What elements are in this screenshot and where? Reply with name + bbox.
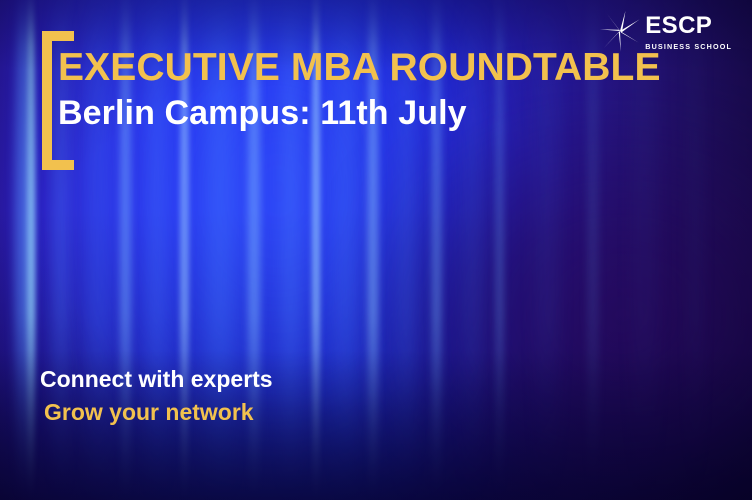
escp-logo: ESCP BUSINESS SCHOOL: [599, 10, 732, 52]
page-title: EXECUTIVE MBA ROUNDTABLE: [58, 48, 678, 89]
escp-logo-text: ESCP BUSINESS SCHOOL: [645, 12, 732, 50]
page-subtitle: Berlin Campus: 11th July: [58, 95, 678, 131]
headline-group: EXECUTIVE MBA ROUNDTABLE Berlin Campus: …: [58, 48, 678, 131]
tagline-group: Connect with experts Grow your network: [40, 365, 273, 428]
escp-logo-name: ESCP: [645, 14, 712, 38]
tagline-primary: Connect with experts: [40, 365, 273, 395]
tagline-secondary: Grow your network: [44, 398, 273, 428]
escp-logo-tagline: BUSINESS SCHOOL: [645, 43, 732, 50]
event-banner: EXECUTIVE MBA ROUNDTABLE Berlin Campus: …: [0, 0, 752, 500]
escp-star-icon: [599, 10, 641, 52]
